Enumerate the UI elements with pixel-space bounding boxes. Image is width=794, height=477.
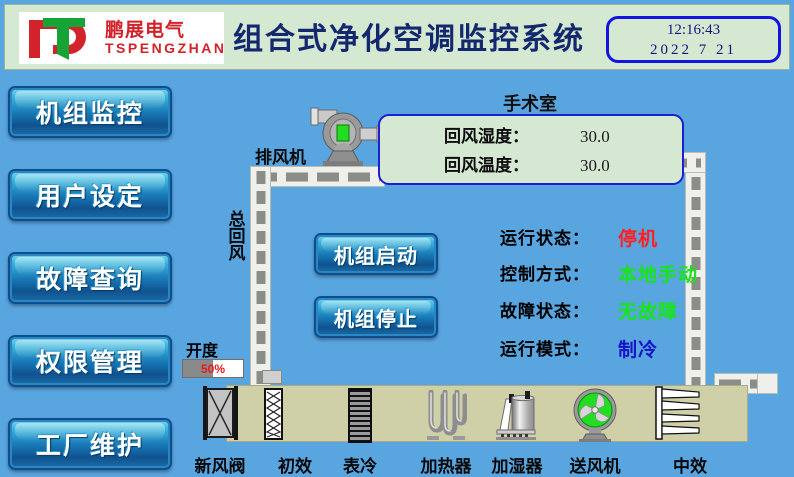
primary-filter-icon bbox=[264, 388, 283, 440]
sidebar-item-factory-maintenance[interactable]: 工厂维护 bbox=[8, 418, 172, 470]
damper-opening-label: 开度 bbox=[186, 337, 218, 361]
component-label-supply-fan: 送风机 bbox=[555, 452, 635, 477]
temperature-label: 回风温度： bbox=[444, 152, 529, 180]
return-air-label: 总回风 bbox=[224, 210, 244, 266]
clock-time: 12:16:43 bbox=[609, 22, 778, 39]
medium-filter-icon bbox=[655, 386, 709, 440]
return-air-text: 总回风 bbox=[225, 210, 244, 261]
sidebar-item-unit-monitor[interactable]: 机组监控 bbox=[8, 86, 172, 138]
humidity-value: 30.0 bbox=[580, 123, 610, 151]
status-value: 制冷 bbox=[618, 337, 658, 363]
component-label-medium-filter: 中效 bbox=[650, 452, 730, 477]
brand-logo-icon bbox=[23, 14, 101, 62]
supply-fan-icon bbox=[568, 386, 622, 442]
unit-start-label: 机组启动 bbox=[316, 235, 436, 273]
sidebar-item-label: 故障查询 bbox=[10, 254, 170, 302]
humidifier-icon bbox=[492, 390, 540, 440]
sidebar-item-permission-management[interactable]: 权限管理 bbox=[8, 335, 172, 387]
duct-dash bbox=[255, 172, 380, 181]
component-label-humidifier: 加湿器 bbox=[477, 452, 557, 477]
logo-english-text: TSPENGZHAN bbox=[105, 40, 224, 56]
sidebar-item-user-settings[interactable]: 用户设定 bbox=[8, 169, 172, 221]
room-title: 手术室 bbox=[470, 90, 590, 116]
component-label-heater: 加热器 bbox=[406, 452, 486, 477]
status-value: 停机 bbox=[618, 226, 658, 252]
status-value: 无故障 bbox=[618, 299, 678, 325]
room-reading-row: 回风温度： 30.0 bbox=[380, 152, 682, 180]
duct-corner-right bbox=[757, 373, 778, 394]
damper-duct-stub bbox=[262, 370, 282, 384]
component-label-fresh-air-damper: 新风阀 bbox=[180, 452, 260, 477]
room-readings-panel: 回风湿度： 30.0 回风温度： 30.0 bbox=[378, 114, 684, 185]
exhaust-fan-label: 排风机 bbox=[255, 143, 306, 168]
sidebar-item-label: 机组监控 bbox=[10, 88, 170, 136]
sidebar-item-label: 用户设定 bbox=[10, 171, 170, 219]
page-title: 组合式净化空调监控系统 bbox=[233, 17, 583, 63]
room-reading-row: 回风湿度： 30.0 bbox=[380, 123, 682, 151]
cooling-coil-icon bbox=[348, 388, 372, 443]
temperature-value: 30.0 bbox=[580, 152, 610, 180]
heater-icon bbox=[425, 390, 467, 440]
unit-stop-button[interactable]: 机组停止 bbox=[314, 296, 438, 338]
duct-dash bbox=[256, 171, 265, 385]
sidebar-item-fault-query[interactable]: 故障查询 bbox=[8, 252, 172, 304]
unit-stop-label: 机组停止 bbox=[316, 298, 436, 336]
unit-start-button[interactable]: 机组启动 bbox=[314, 233, 438, 275]
status-label: 运行状态： bbox=[500, 226, 590, 252]
hmi-screen: 鹏展电气 TSPENGZHAN 组合式净化空调监控系统 12:16:43 202… bbox=[0, 0, 794, 476]
damper-opening-percent: 50% bbox=[183, 360, 243, 377]
status-value: 本地手动 bbox=[618, 262, 698, 288]
component-label-cooling-coil: 表冷 bbox=[320, 452, 400, 477]
company-logo: 鹏展电气 TSPENGZHAN bbox=[19, 12, 224, 64]
clock-date: 2022 7 21 bbox=[609, 42, 778, 59]
status-label: 故障状态： bbox=[500, 299, 590, 325]
sidebar-item-label: 权限管理 bbox=[10, 337, 170, 385]
exhaust-fan-icon bbox=[305, 104, 385, 166]
damper-opening-bar[interactable]: 50% bbox=[182, 359, 244, 378]
logo-chinese-text: 鹏展电气 bbox=[105, 15, 185, 42]
sidebar-item-label: 工厂维护 bbox=[10, 420, 170, 468]
header-bar: 鹏展电气 TSPENGZHAN 组合式净化空调监控系统 12:16:43 202… bbox=[4, 4, 790, 70]
clock-display: 12:16:43 2022 7 21 bbox=[606, 16, 781, 63]
damper-frame-right bbox=[234, 386, 238, 440]
status-label: 控制方式： bbox=[500, 262, 590, 288]
duct-left-vertical bbox=[250, 166, 271, 390]
humidity-label: 回风湿度： bbox=[444, 123, 529, 151]
status-label: 运行模式： bbox=[500, 337, 590, 363]
fresh-air-damper-icon[interactable] bbox=[206, 388, 234, 438]
